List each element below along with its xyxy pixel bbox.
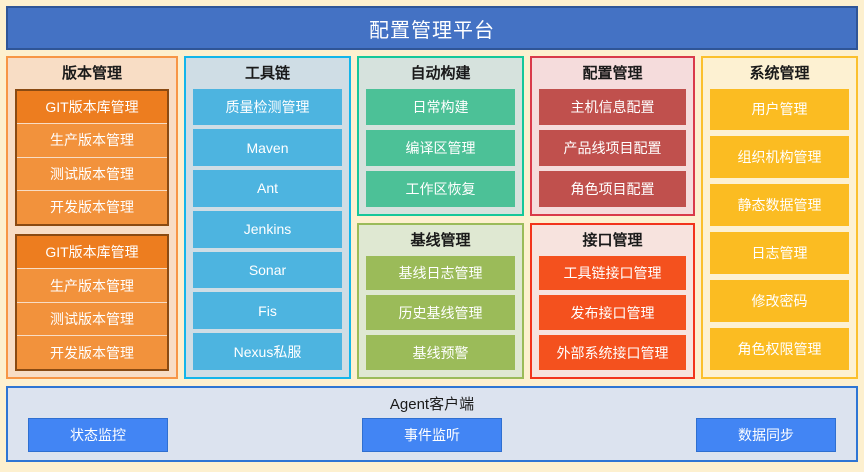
system-item-list: 用户管理 组织机构管理 静态数据管理 日志管理 修改密码 角色权限管理 — [710, 89, 849, 371]
agent-button-status-monitor[interactable]: 状态监控 — [28, 418, 168, 452]
toolchain-item-ant[interactable]: Ant — [193, 170, 342, 207]
modules-region: 版本管理 GIT版本库管理 生产版本管理 测试版本管理 开发版本管理 GIT版本… — [6, 56, 858, 379]
system-item-change-password[interactable]: 修改密码 — [710, 280, 849, 322]
panel-system-management[interactable]: 系统管理 用户管理 组织机构管理 静态数据管理 日志管理 修改密码 角色权限管理 — [701, 56, 858, 379]
interface-item-toolchain[interactable]: 工具链接口管理 — [539, 256, 686, 291]
toolchain-item-jenkins[interactable]: Jenkins — [193, 211, 342, 248]
version-item-prod-1[interactable]: 生产版本管理 — [17, 124, 167, 158]
toolchain-item-nexus[interactable]: Nexus私服 — [193, 333, 342, 370]
baseline-item-list: 基线日志管理 历史基线管理 基线预警 — [366, 256, 515, 371]
system-item-log[interactable]: 日志管理 — [710, 232, 849, 274]
panel-interface-management[interactable]: 接口管理 工具链接口管理 发布接口管理 外部系统接口管理 — [530, 223, 695, 379]
auto-build-item-compile-area[interactable]: 编译区管理 — [366, 130, 515, 166]
diagram-canvas: 配置管理平台 版本管理 GIT版本库管理 生产版本管理 测试版本管理 开发版本管… — [0, 0, 864, 472]
toolchain-item-list: 质量检测管理 Maven Ant Jenkins Sonar Fis Nexus… — [193, 89, 342, 371]
page-title: 配置管理平台 — [369, 14, 495, 43]
toolchain-item-maven[interactable]: Maven — [193, 129, 342, 166]
baseline-item-alert[interactable]: 基线预警 — [366, 335, 515, 370]
panel-title-baseline-management: 基线管理 — [366, 230, 515, 256]
column-version-management: 版本管理 GIT版本库管理 生产版本管理 测试版本管理 开发版本管理 GIT版本… — [6, 56, 178, 379]
column-build-baseline: 自动构建 日常构建 编译区管理 工作区恢复 基线管理 基线日志管理 历史基线管理… — [357, 56, 524, 379]
column-toolchain: 工具链 质量检测管理 Maven Ant Jenkins Sonar Fis N… — [184, 56, 351, 379]
panel-toolchain[interactable]: 工具链 质量检测管理 Maven Ant Jenkins Sonar Fis N… — [184, 56, 351, 379]
version-item-test-1[interactable]: 测试版本管理 — [17, 158, 167, 192]
panel-title-interface-management: 接口管理 — [539, 230, 686, 256]
config-item-role-project[interactable]: 角色项目配置 — [539, 171, 686, 207]
system-item-user[interactable]: 用户管理 — [710, 89, 849, 131]
panel-auto-build[interactable]: 自动构建 日常构建 编译区管理 工作区恢复 — [357, 56, 524, 216]
baseline-item-log[interactable]: 基线日志管理 — [366, 256, 515, 291]
toolchain-item-fis[interactable]: Fis — [193, 292, 342, 329]
panel-title-version-management: 版本管理 — [15, 63, 169, 89]
version-item-dev-2[interactable]: 开发版本管理 — [17, 336, 167, 369]
interface-item-list: 工具链接口管理 发布接口管理 外部系统接口管理 — [539, 256, 686, 371]
auto-build-item-list: 日常构建 编译区管理 工作区恢复 — [366, 89, 515, 208]
panel-version-management[interactable]: 版本管理 GIT版本库管理 生产版本管理 测试版本管理 开发版本管理 GIT版本… — [6, 56, 178, 379]
version-item-prod-2[interactable]: 生产版本管理 — [17, 269, 167, 303]
system-item-static-data[interactable]: 静态数据管理 — [710, 184, 849, 226]
column-config-interface: 配置管理 主机信息配置 产品线项目配置 角色项目配置 接口管理 工具链接口管理 … — [530, 56, 695, 379]
panel-config-management[interactable]: 配置管理 主机信息配置 产品线项目配置 角色项目配置 — [530, 56, 695, 216]
version-group-2: GIT版本库管理 生产版本管理 测试版本管理 开发版本管理 — [15, 234, 169, 371]
version-item-git-repo-2[interactable]: GIT版本库管理 — [17, 236, 167, 270]
version-item-git-repo-1[interactable]: GIT版本库管理 — [17, 91, 167, 125]
panel-title-config-management: 配置管理 — [539, 63, 686, 89]
version-group-1: GIT版本库管理 生产版本管理 测试版本管理 开发版本管理 — [15, 89, 169, 226]
version-item-dev-1[interactable]: 开发版本管理 — [17, 191, 167, 224]
panel-baseline-management[interactable]: 基线管理 基线日志管理 历史基线管理 基线预警 — [357, 223, 524, 379]
toolchain-item-sonar[interactable]: Sonar — [193, 252, 342, 289]
panel-title-toolchain: 工具链 — [193, 63, 342, 89]
config-item-product-line-project[interactable]: 产品线项目配置 — [539, 130, 686, 166]
auto-build-item-daily[interactable]: 日常构建 — [366, 89, 515, 125]
panel-title-auto-build: 自动构建 — [366, 63, 515, 89]
config-item-host-info[interactable]: 主机信息配置 — [539, 89, 686, 125]
system-item-role-permission[interactable]: 角色权限管理 — [710, 328, 849, 370]
auto-build-item-workspace-restore[interactable]: 工作区恢复 — [366, 171, 515, 207]
column-system-management: 系统管理 用户管理 组织机构管理 静态数据管理 日志管理 修改密码 角色权限管理 — [701, 56, 858, 379]
panel-title-agent-client: Agent客户端 — [8, 388, 856, 418]
panel-title-system-management: 系统管理 — [710, 63, 849, 89]
panel-agent-client: Agent客户端 状态监控 事件监听 数据同步 — [6, 386, 858, 462]
platform-title-bar: 配置管理平台 — [6, 6, 858, 50]
interface-item-release[interactable]: 发布接口管理 — [539, 295, 686, 330]
agent-button-event-listener[interactable]: 事件监听 — [362, 418, 502, 452]
config-item-list: 主机信息配置 产品线项目配置 角色项目配置 — [539, 89, 686, 208]
system-item-organization[interactable]: 组织机构管理 — [710, 136, 849, 178]
baseline-item-history[interactable]: 历史基线管理 — [366, 295, 515, 330]
agent-button-row: 状态监控 事件监听 数据同步 — [8, 418, 856, 460]
version-item-test-2[interactable]: 测试版本管理 — [17, 303, 167, 337]
toolchain-item-quality[interactable]: 质量检测管理 — [193, 89, 342, 126]
agent-button-data-sync[interactable]: 数据同步 — [696, 418, 836, 452]
interface-item-external-system[interactable]: 外部系统接口管理 — [539, 335, 686, 370]
